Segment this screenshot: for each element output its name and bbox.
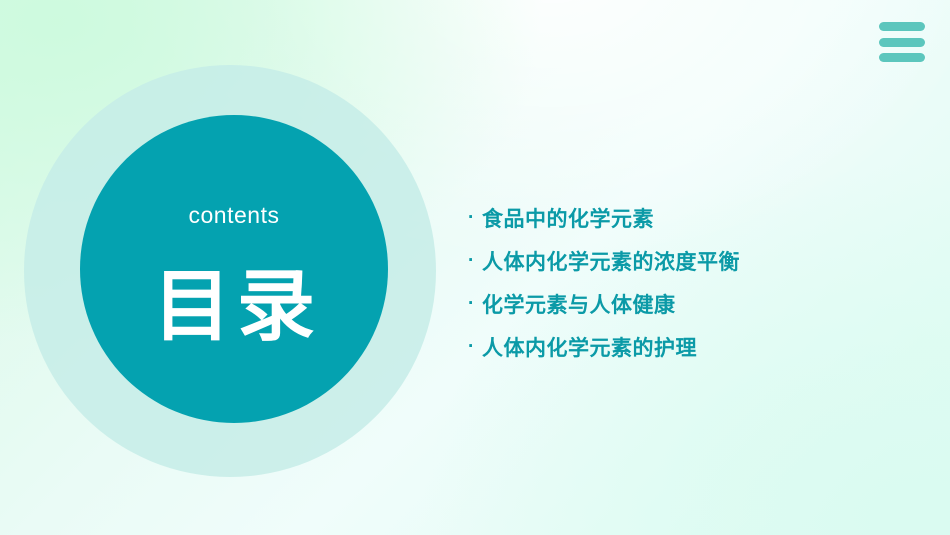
list-item-label: 人体内化学元素的护理 bbox=[482, 332, 898, 362]
list-item[interactable]: · 食品中的化学元素 bbox=[468, 196, 898, 239]
list-item-label: 食品中的化学元素 bbox=[482, 203, 898, 233]
list-item[interactable]: · 人体内化学元素的护理 bbox=[468, 325, 898, 368]
hamburger-bar-2 bbox=[879, 38, 925, 47]
contents-label: contents bbox=[189, 204, 280, 227]
list-item[interactable]: · 人体内化学元素的浓度平衡 bbox=[468, 239, 898, 282]
hamburger-menu-icon[interactable] bbox=[879, 22, 925, 62]
slide-canvas: contents 目录 · 食品中的化学元素 · 人体内化学元素的浓度平衡 · … bbox=[0, 0, 950, 535]
bullet-icon: · bbox=[468, 251, 482, 270]
list-item[interactable]: · 化学元素与人体健康 bbox=[468, 282, 898, 325]
bullet-icon: · bbox=[468, 337, 482, 356]
hamburger-bar-3 bbox=[879, 53, 925, 62]
list-item-label: 化学元素与人体健康 bbox=[482, 289, 898, 319]
hamburger-bar-1 bbox=[879, 22, 925, 31]
agenda-list: · 食品中的化学元素 · 人体内化学元素的浓度平衡 · 化学元素与人体健康 · … bbox=[468, 196, 898, 368]
bullet-icon: · bbox=[468, 208, 482, 227]
page-title: 目录 bbox=[147, 267, 321, 345]
bullet-icon: · bbox=[468, 294, 482, 313]
contents-circle-text-group: contents 目录 bbox=[80, 115, 388, 423]
list-item-label: 人体内化学元素的浓度平衡 bbox=[482, 246, 898, 276]
